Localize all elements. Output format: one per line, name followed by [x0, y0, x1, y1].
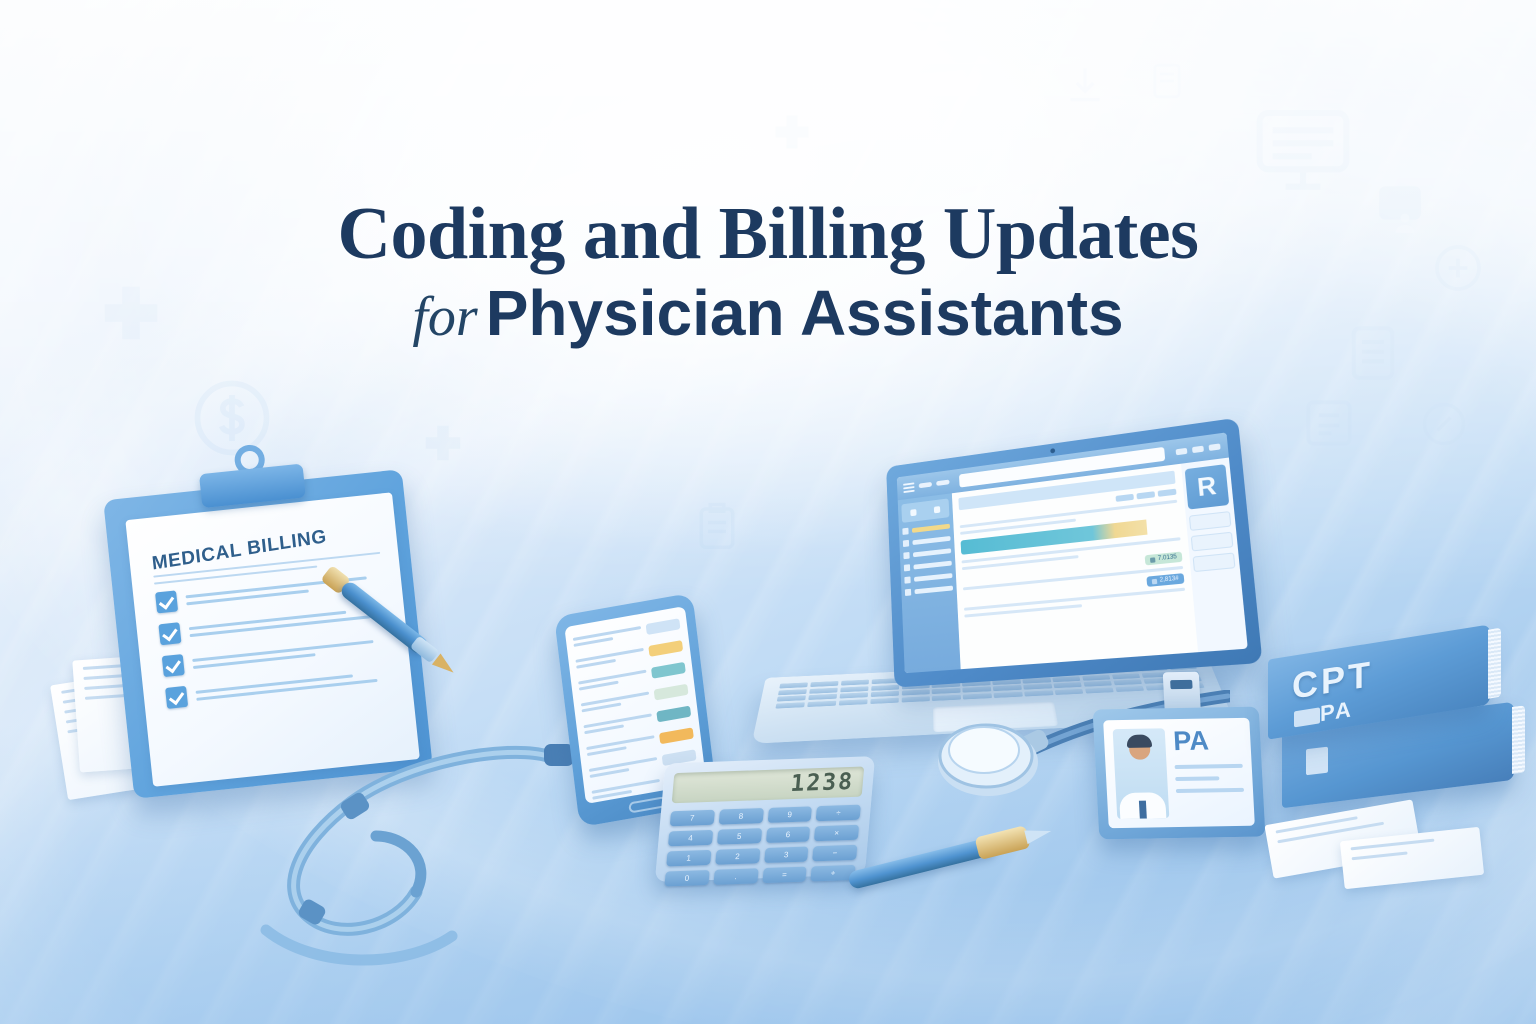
nav-item[interactable] — [936, 480, 949, 486]
calc-key[interactable]: × — [814, 825, 859, 842]
pen-tip — [432, 654, 458, 679]
calculator-body: 1238 7 8 9 ÷ 4 5 6 × 1 2 3 − 0 . — [655, 756, 875, 882]
app-logo: R — [1185, 464, 1230, 509]
calculator-display: 1238 — [672, 767, 865, 804]
calculator-keypad[interactable]: 7 8 9 ÷ 4 5 6 × 1 2 3 − 0 . = + — [664, 805, 860, 887]
checkbox-checked-icon[interactable] — [155, 590, 178, 613]
toolbar-icon[interactable] — [1192, 445, 1204, 452]
laptop-lid: 7.0135 2,813# R — [886, 418, 1262, 688]
badge-credential: PA — [1173, 727, 1242, 755]
receipt-papers-right — [1268, 806, 1508, 916]
calculator-display-value: 1238 — [789, 769, 855, 797]
title-line-1: Coding and Billing Updates — [0, 196, 1536, 272]
rail-card[interactable] — [1189, 511, 1232, 531]
webcam-icon — [1050, 448, 1055, 453]
clipboard-heading: MEDICAL BILLING — [151, 518, 379, 576]
calc-key[interactable]: 2 — [715, 848, 760, 865]
calc-key[interactable]: 4 — [668, 830, 713, 847]
book-title-pa: PA — [1320, 696, 1353, 727]
reference-book-stack: CPT PA — [1268, 620, 1518, 820]
status-tag — [656, 706, 691, 723]
badge-card: PA — [1103, 718, 1255, 828]
checkbox-checked-icon[interactable] — [158, 622, 181, 645]
status-tag — [648, 640, 683, 657]
book-pages — [1512, 705, 1525, 774]
toolbar-icon[interactable] — [1209, 443, 1221, 451]
app-main-panel: 7.0135 2,813# — [952, 464, 1198, 670]
amount-tag-green: 7.0135 — [1144, 552, 1182, 566]
pen-barrel — [847, 836, 997, 890]
book-label — [1294, 707, 1320, 727]
book-label — [1306, 747, 1328, 776]
desk-scene: MEDICAL BILLING — [0, 0, 1536, 1024]
status-tag — [651, 662, 686, 679]
badge-info: PA — [1173, 727, 1246, 818]
rail-card[interactable] — [1191, 532, 1234, 552]
status-tag — [659, 727, 694, 744]
hair — [1126, 734, 1152, 747]
calc-key[interactable]: 9 — [767, 806, 812, 823]
sidebar-item[interactable] — [904, 572, 952, 584]
toolbar-icon[interactable] — [1176, 447, 1188, 454]
calc-key[interactable]: 1 — [666, 850, 711, 867]
sidebar-item[interactable] — [903, 547, 951, 559]
checkbox-checked-icon[interactable] — [165, 686, 188, 709]
necktie — [1139, 801, 1147, 819]
pa-id-badge[interactable]: PA — [1093, 707, 1266, 840]
sidebar-item[interactable] — [903, 535, 951, 547]
rail-card[interactable] — [1193, 552, 1236, 572]
sidebar-item-active[interactable] — [902, 523, 950, 535]
desk-calculator[interactable]: 1238 7 8 9 ÷ 4 5 6 × 1 2 3 − 0 . — [655, 756, 875, 882]
book-pages — [1488, 628, 1501, 699]
status-tag — [646, 618, 681, 635]
sidebar-header — [901, 498, 949, 522]
calc-key[interactable]: ÷ — [816, 805, 861, 822]
avatar — [1113, 728, 1170, 819]
page-title: Coding and Billing Updates forPhysician … — [0, 196, 1536, 348]
calc-key[interactable]: . — [713, 868, 758, 885]
calc-key[interactable]: 8 — [718, 808, 763, 825]
sidebar-item[interactable] — [904, 560, 952, 572]
laptop-screen[interactable]: 7.0135 2,813# R — [897, 432, 1248, 673]
calc-key[interactable]: 6 — [765, 826, 810, 843]
hamburger-menu-icon[interactable] — [903, 482, 915, 493]
hero-banner: Coding and Billing Updates forPhysician … — [0, 0, 1536, 1024]
calc-key[interactable]: = — [762, 867, 807, 884]
calc-key[interactable]: − — [812, 845, 857, 862]
pen-tip — [1024, 824, 1053, 844]
calc-key[interactable]: 3 — [764, 846, 809, 863]
checkbox-checked-icon[interactable] — [162, 654, 185, 677]
title-for-word: for — [412, 286, 485, 348]
status-tag — [654, 684, 689, 701]
calc-key[interactable]: 5 — [717, 828, 762, 845]
sidebar-item[interactable] — [905, 585, 953, 596]
amount-tag-blue: 2,813# — [1146, 573, 1184, 587]
app-sidebar[interactable] — [898, 493, 961, 673]
title-line-2: forPhysician Assistants — [0, 278, 1536, 347]
calc-key[interactable]: 0 — [664, 870, 709, 887]
title-subject: Physician Assistants — [486, 277, 1124, 349]
nav-item[interactable] — [919, 482, 932, 488]
calc-key[interactable]: 7 — [670, 810, 715, 827]
